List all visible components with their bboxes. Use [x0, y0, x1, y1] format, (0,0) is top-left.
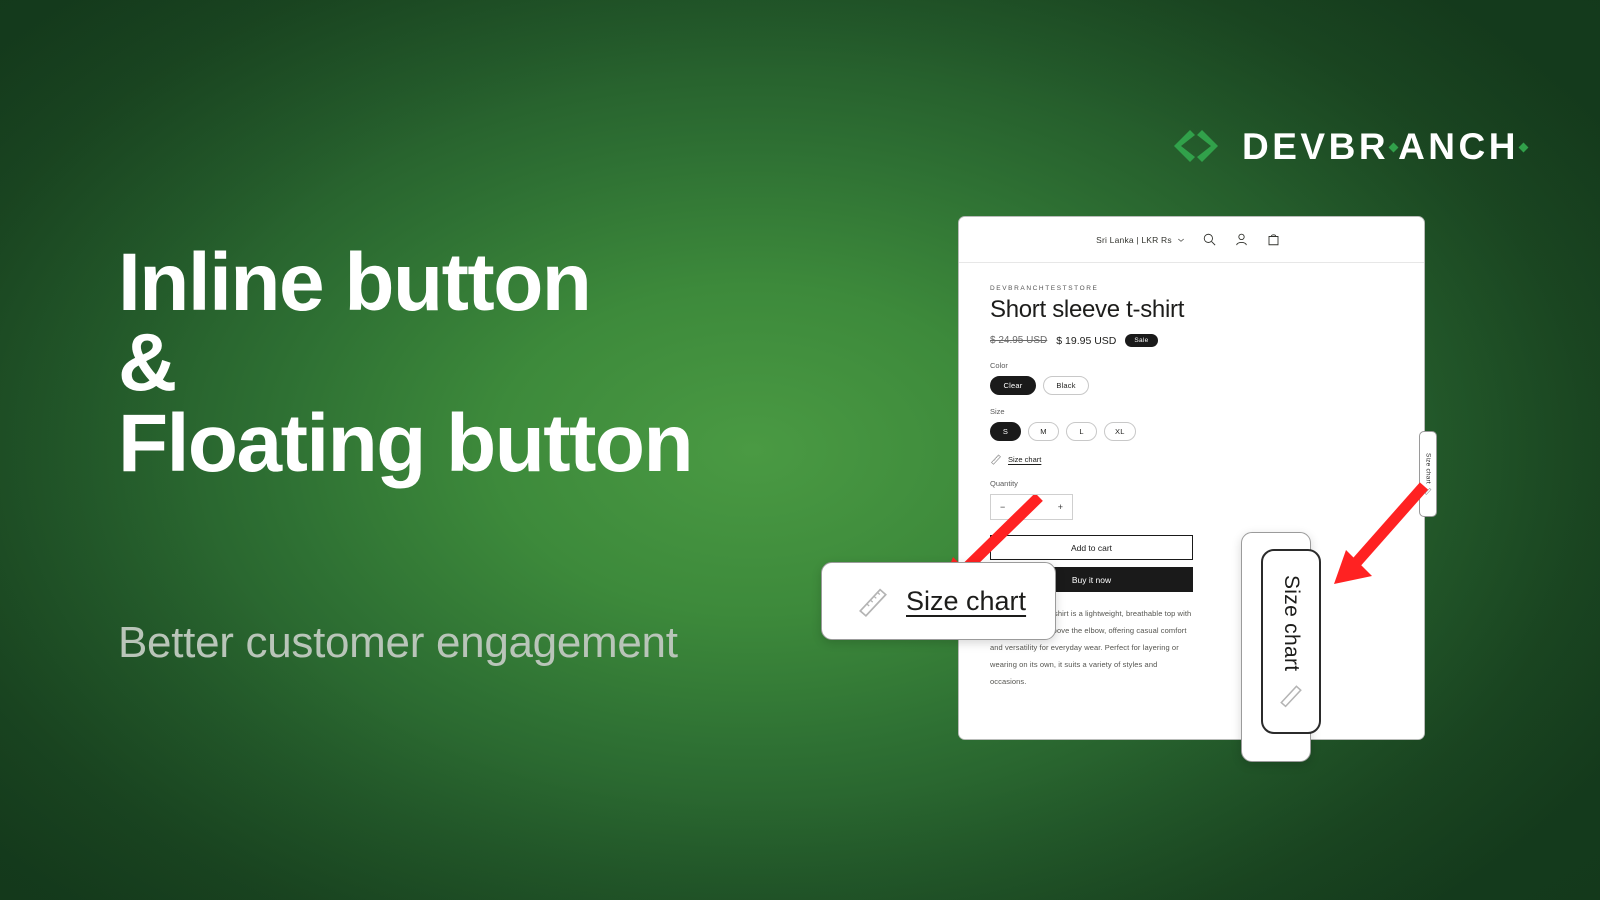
- floating-button-preview[interactable]: Size chart: [1261, 549, 1321, 734]
- quantity-increase-button[interactable]: +: [1058, 502, 1063, 512]
- shop-header: Sri Lanka | LKR Rs: [959, 217, 1424, 263]
- user-icon[interactable]: [1234, 232, 1249, 247]
- product-title: Short sleeve t-shirt: [990, 297, 1424, 323]
- price-sale: $ 19.95 USD: [1056, 335, 1116, 347]
- price-original: $ 24.95 USD: [990, 335, 1047, 346]
- status-badge: Sale: [1125, 334, 1157, 347]
- product-price-group: $ 24.95 USD $ 19.95 USD Sale: [990, 334, 1424, 347]
- size-chart-inline-button[interactable]: Size chart: [990, 453, 1041, 465]
- size-chart-inline-label: Size chart: [1008, 455, 1041, 464]
- size-option-m[interactable]: M: [1028, 422, 1059, 441]
- size-option-group: S M L XL: [990, 422, 1424, 441]
- color-option-group: Clear Black: [990, 376, 1424, 395]
- product-vendor: DEVBRANCHTESTSTORE: [990, 285, 1424, 292]
- hero-headline: Inline button & Floating button: [118, 243, 692, 484]
- size-option-label: Size: [990, 407, 1424, 416]
- ruler-icon: [1278, 682, 1304, 708]
- devbranch-logo: DEVBRANCH: [1172, 126, 1528, 166]
- size-option-s[interactable]: S: [990, 422, 1021, 441]
- ruler-icon: [856, 584, 890, 618]
- floating-button-callout: Size chart: [1241, 532, 1311, 762]
- logo-dot-icon: [1519, 142, 1529, 152]
- floating-callout-label: Size chart: [1279, 575, 1303, 671]
- inline-callout-label: Size chart: [906, 586, 1026, 617]
- search-icon[interactable]: [1202, 232, 1217, 247]
- size-option-xl[interactable]: XL: [1104, 422, 1136, 441]
- color-option-clear[interactable]: Clear: [990, 376, 1036, 395]
- cart-icon[interactable]: [1266, 232, 1281, 247]
- chevron-down-icon: [1177, 236, 1185, 244]
- ruler-icon: [990, 453, 1002, 465]
- logo-wordmark: DEVBRANCH: [1242, 128, 1528, 165]
- logo-dot-icon: [1389, 142, 1399, 152]
- inline-button-callout: Size chart: [821, 562, 1056, 640]
- locale-label: Sri Lanka | LKR Rs: [1096, 235, 1172, 245]
- code-brackets-icon: [1172, 126, 1228, 166]
- color-option-label: Color: [990, 361, 1424, 370]
- product-page-mockup: Sri Lanka | LKR Rs DEVBRANCHTESTSTORE Sh…: [958, 216, 1425, 740]
- locale-selector[interactable]: Sri Lanka | LKR Rs: [1096, 235, 1185, 245]
- headline-line-3: Floating button: [118, 404, 692, 484]
- headline-line-2: &: [118, 323, 692, 403]
- hero-subheadline: Better customer engagement: [118, 618, 678, 668]
- headline-line-1: Inline button: [118, 243, 692, 323]
- color-option-black[interactable]: Black: [1043, 376, 1089, 395]
- size-option-l[interactable]: L: [1066, 422, 1097, 441]
